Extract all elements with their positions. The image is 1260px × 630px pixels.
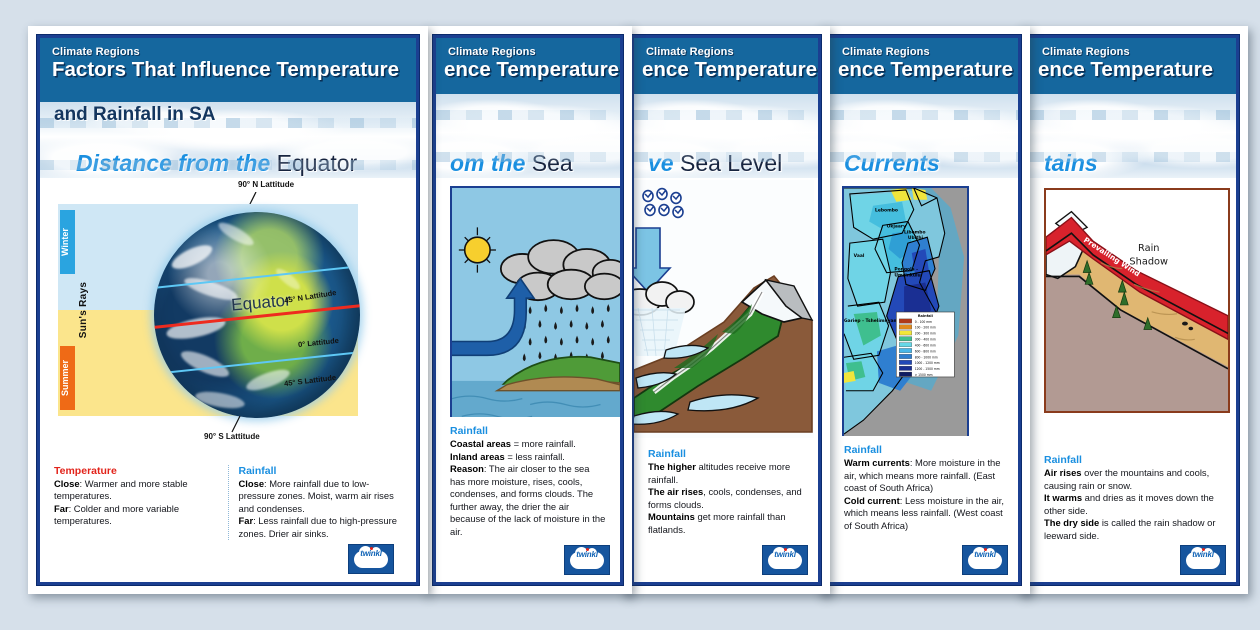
subtitle-rest: Sea Level xyxy=(680,150,782,176)
subtitle-highlight: Distance from the xyxy=(76,150,270,176)
card-header: Climate Regions ence Temperature xyxy=(830,38,1018,94)
globe-illustration: 90° N Lattitude Winter Summer Sun's Rays xyxy=(40,178,416,446)
card-distance-from-sea[interactable]: Climate Regions ence Temperature om the … xyxy=(424,26,632,594)
note-label: It warms xyxy=(1044,492,1082,503)
poster-stage: Climate Regions ence Temperature tains xyxy=(0,0,1260,630)
logo-dot xyxy=(784,548,787,551)
svg-text:1200 - 1500 mm: 1200 - 1500 mm xyxy=(915,367,940,371)
card-header: Climate Regions Factors That Influence T… xyxy=(40,38,416,102)
card-body: 90° N Lattitude Winter Summer Sun's Rays xyxy=(40,178,416,582)
note-heading: Rainfall xyxy=(648,448,804,460)
note-label: Close xyxy=(54,478,80,489)
subtitle-rest: Equator xyxy=(277,150,358,176)
card-title: Factors That Influence Temperature xyxy=(52,59,404,81)
logo-dot xyxy=(1202,548,1205,551)
card-title-line2: and Rainfall in SA xyxy=(54,104,216,126)
note-label: Warm currents xyxy=(844,457,910,468)
rain-shadow-svg: Rain Shadow Prevailing Wind xyxy=(1046,190,1228,411)
twinkl-logo: twinkl xyxy=(348,544,394,574)
map-legend: Rainfall 0 - 100 mm 100 - 200 mm 200 - 3… xyxy=(896,312,954,377)
svg-text:600 - 800 mm: 600 - 800 mm xyxy=(915,349,936,353)
logo-dot xyxy=(370,547,373,550)
svg-text:Okjaary: Okjaary xyxy=(887,223,906,229)
card-notes: Rainfall Coastal areas = more rainfall. … xyxy=(436,417,620,544)
altitude-svg xyxy=(634,180,814,438)
card-body: Rain Shadow Prevailing Wind Rainfall Air… xyxy=(1030,178,1236,582)
earth-globe: Equator xyxy=(154,212,360,418)
card-inner: Climate Regions ence Temperature tains xyxy=(1027,35,1239,585)
subtitle-highlight: tains xyxy=(1044,150,1098,176)
winter-label: Winter xyxy=(60,210,75,274)
svg-text:Libombo: Libombo xyxy=(904,229,925,235)
note-text: : Less rainfall due to high-pressure zon… xyxy=(239,515,397,539)
subtitle-rest: Sea xyxy=(532,150,573,176)
card-subtitle: ve Sea Level xyxy=(634,151,818,175)
svg-text:0 - 100 mm: 0 - 100 mm xyxy=(915,320,932,324)
card-notes: Rainfall Warm currents: More moisture in… xyxy=(830,436,1018,538)
svg-text:200 - 300 mm: 200 - 300 mm xyxy=(915,332,936,336)
svg-text:800 - 1000 mm: 800 - 1000 mm xyxy=(915,355,938,359)
card-inner: Climate Regions Factors That Influence T… xyxy=(37,35,419,585)
svg-text:Umzinkulu: Umzinkulu xyxy=(894,273,920,279)
card-ocean-currents[interactable]: Climate Regions ence Temperature Current… xyxy=(818,26,1030,594)
note-body: Close: Warmer and more stable temperatur… xyxy=(54,478,218,528)
note-label: The dry side xyxy=(1044,517,1099,528)
card-inner: Climate Regions ence Temperature Current… xyxy=(827,35,1021,585)
note-text: = more rainfall. xyxy=(511,438,576,449)
note-heading: Rainfall xyxy=(1044,454,1222,466)
twinkl-logo: twinkl xyxy=(762,545,808,575)
lat-label-90n: 90° N Lattitude xyxy=(238,180,294,189)
note-body: Air rises over the mountains and cools, … xyxy=(1044,467,1222,542)
card-subtitle: tains xyxy=(1030,151,1236,175)
svg-text:Lebombo: Lebombo xyxy=(875,208,898,214)
card-kicker: Climate Regions xyxy=(646,46,806,58)
svg-text:Vaal: Vaal xyxy=(854,253,865,259)
summer-label: Summer xyxy=(60,346,75,410)
rain-shadow-illustration: Rain Shadow Prevailing Wind xyxy=(1044,188,1230,413)
note-label: Mountains xyxy=(648,511,695,522)
logo-text: twinkl xyxy=(349,549,393,558)
note-label: Cold current xyxy=(844,495,900,506)
card-header: Climate Regions ence Temperature xyxy=(436,38,620,94)
card-kicker: Climate Regions xyxy=(52,46,404,58)
logo-dot xyxy=(586,548,589,551)
note-body: Coastal areas = more rainfall. Inland ar… xyxy=(450,438,606,538)
note-text: : The air closer to the sea has more moi… xyxy=(450,463,605,537)
card-subtitle: Currents xyxy=(830,151,1018,175)
note-label: The air rises xyxy=(648,486,703,497)
card-distance-from-equator[interactable]: Climate Regions Factors That Influence T… xyxy=(28,26,428,594)
card-subtitle: om the Sea xyxy=(436,151,620,175)
card-title: ence Temperature xyxy=(444,59,608,81)
sky-band: and Rainfall in SA Distance from the Equ… xyxy=(40,102,416,178)
sky-band: Currents xyxy=(830,94,1018,178)
note-label: Inland areas xyxy=(450,451,505,462)
notes-column-temperature: Temperature Close: Warmer and more stabl… xyxy=(54,465,218,541)
note-heading: Rainfall xyxy=(450,425,606,437)
svg-text:> 1500 mm: > 1500 mm xyxy=(915,373,933,377)
card-body: Lebombo Okjaary Libombo Ubithi Pongola -… xyxy=(830,178,1018,582)
card-kicker: Climate Regions xyxy=(448,46,608,58)
note-label: Far xyxy=(54,503,69,514)
svg-text:Ubithi: Ubithi xyxy=(908,235,924,241)
notes-column-rainfall: Rainfall Close: More rainfall due to low… xyxy=(228,465,403,541)
subtitle-highlight: ve xyxy=(648,150,674,176)
svg-text:100 - 200 mm: 100 - 200 mm xyxy=(915,326,936,330)
note-body: The higher altitudes receive more rainfa… xyxy=(648,461,804,536)
note-heading: Temperature xyxy=(54,465,218,477)
svg-text:1000 - 1200 mm: 1000 - 1200 mm xyxy=(915,361,940,365)
logo-text: twinkl xyxy=(1181,550,1225,559)
subtitle-highlight: Currents xyxy=(844,150,940,176)
note-label: Reason xyxy=(450,463,484,474)
note-heading: Rainfall xyxy=(844,444,1004,456)
note-body: Close: More rainfall due to low-pressure… xyxy=(239,478,403,541)
card-header: Climate Regions ence Temperature xyxy=(1030,38,1236,94)
card-notes: Temperature Close: Warmer and more stabl… xyxy=(40,457,416,547)
svg-text:Gariep - Tshelimnyama: Gariep - Tshelimnyama xyxy=(844,318,901,324)
note-label: The higher xyxy=(648,461,696,472)
card-subtitle: Distance from the Equator xyxy=(40,151,416,175)
card-inner: Climate Regions ence Temperature ve Sea … xyxy=(631,35,821,585)
sea-svg xyxy=(452,188,620,436)
card-notes: Rainfall Air rises over the mountains an… xyxy=(1030,446,1236,548)
note-text: : Colder and more variable temperatures. xyxy=(54,503,179,527)
sky-band: tains xyxy=(1030,94,1236,178)
logo-dot xyxy=(984,548,987,551)
south-africa-rainfall-map: Lebombo Okjaary Libombo Ubithi Pongola -… xyxy=(842,186,969,438)
card-title: ence Temperature xyxy=(1038,59,1224,81)
season-bands: Winter Summer Sun's Rays xyxy=(58,204,358,416)
twinkl-logo: twinkl xyxy=(564,545,610,575)
note-label: Close xyxy=(239,478,265,489)
card-header: Climate Regions ence Temperature xyxy=(634,38,818,94)
sea-rain-illustration xyxy=(450,186,622,438)
card-title: ence Temperature xyxy=(642,59,806,81)
svg-text:Pongola -: Pongola - xyxy=(894,267,918,273)
subtitle-highlight: om the xyxy=(450,150,525,176)
logo-text: twinkl xyxy=(763,550,807,559)
lat-label-90s: 90° S Lattitude xyxy=(204,432,260,441)
card-height-above-sea-level[interactable]: Climate Regions ence Temperature ve Sea … xyxy=(622,26,830,594)
note-text: = less rainfall. xyxy=(505,451,565,462)
note-body: Warm currents: More moisture in the air,… xyxy=(844,457,1004,532)
notes-columns: Temperature Close: Warmer and more stabl… xyxy=(54,465,402,541)
twinkl-logo: twinkl xyxy=(1180,545,1226,575)
card-mountains[interactable]: Climate Regions ence Temperature tains xyxy=(1018,26,1248,594)
svg-text:400 - 600 mm: 400 - 600 mm xyxy=(915,343,936,347)
svg-text:300 - 400 mm: 300 - 400 mm xyxy=(915,338,936,342)
card-inner: Climate Regions ence Temperature om the … xyxy=(433,35,623,585)
svg-text:Rainfall: Rainfall xyxy=(918,314,933,318)
card-body: Rainfall The higher altitudes receive mo… xyxy=(634,178,818,582)
card-title: ence Temperature xyxy=(838,59,1006,81)
card-notes: Rainfall The higher altitudes receive mo… xyxy=(634,440,818,542)
logo-text: twinkl xyxy=(565,550,609,559)
note-label: Air rises xyxy=(1044,467,1082,478)
altitude-illustration xyxy=(634,180,814,438)
note-label: Far xyxy=(239,515,254,526)
sky-band: om the Sea xyxy=(436,94,620,178)
card-kicker: Climate Regions xyxy=(1042,46,1224,58)
card-kicker: Climate Regions xyxy=(842,46,1006,58)
svg-text:Rain: Rain xyxy=(1138,243,1159,254)
rainfall-map-svg: Lebombo Okjaary Libombo Ubithi Pongola -… xyxy=(844,188,967,436)
sky-band: ve Sea Level xyxy=(634,94,818,178)
twinkl-logo: twinkl xyxy=(962,545,1008,575)
logo-text: twinkl xyxy=(963,550,1007,559)
note-heading: Rainfall xyxy=(239,465,403,477)
suns-rays-label: Sun's Rays xyxy=(78,282,89,339)
note-label: Coastal areas xyxy=(450,438,511,449)
card-body: Rainfall Coastal areas = more rainfall. … xyxy=(436,178,620,582)
